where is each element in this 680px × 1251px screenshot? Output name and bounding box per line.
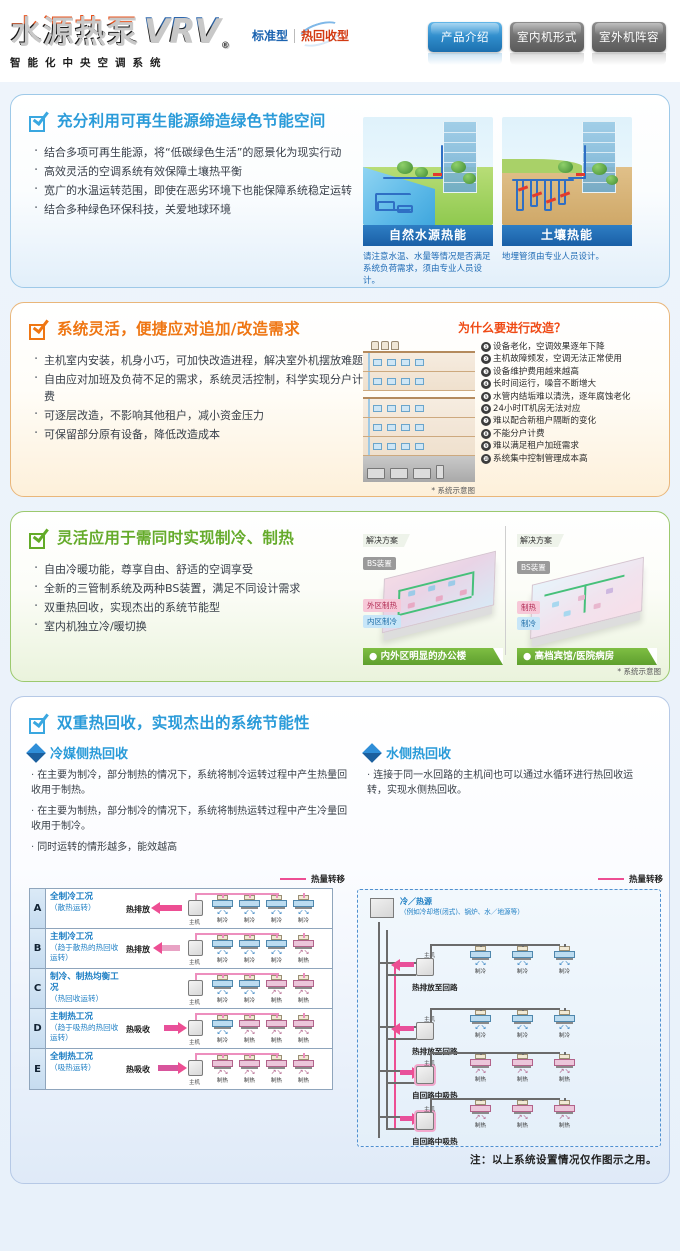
list-item: 结合多种绿色环保科技，关爱地球环境 — [33, 201, 363, 218]
list-item: 可逐层改造，不影响其他租户，减小资金压力 — [33, 407, 363, 424]
row-key: E — [30, 1049, 46, 1089]
paragraph: 连接于同一水回路的主机间也可以通过水循环进行热回收运转，实现水侧热回收。 — [365, 768, 651, 798]
list-item: ❾难以满足租户加班需求 — [481, 440, 661, 452]
roof-units-icon — [363, 341, 475, 350]
table-row: E 全制热工况 （吸热运转） 热吸收 主机 ↗↘制热 — [30, 1049, 332, 1089]
list-item: 高效灵活的空调系统有效保障土壤热平衡 — [33, 163, 363, 180]
diamond-icon — [362, 743, 382, 763]
badge-standard-type[interactable]: 标准型 — [252, 27, 288, 44]
list-item: ❷主机故障频发，空调无法正常使用 — [481, 353, 661, 365]
row-label: 全制冷工况 （散热运转） — [46, 889, 126, 928]
section2-bullet-list: 主机室内安装，机身小巧，可加快改造进程，解决室外机摆放难题 自由应对加班及负荷不… — [33, 352, 363, 443]
row-label: 全制热工况 （吸热运转） — [46, 1049, 126, 1089]
illustration-note: 地埋管须由专业人员设计。 — [502, 251, 632, 263]
badge-heat-recovery-type[interactable]: 热回收型 — [301, 27, 349, 44]
list-item: ❻24小时IT机房无法对应 — [481, 403, 661, 415]
host-unit-icon — [416, 958, 434, 976]
row-key: D — [30, 1009, 46, 1048]
section2-title: 系统灵活，便捷应对追加/改造需求 — [57, 319, 300, 339]
row-key: B — [30, 929, 46, 968]
retrofit-reasons-list: ❶设备老化，空调效果逐年下降 ❷主机故障频发，空调无法正常使用 ❸设备维护费用越… — [481, 341, 661, 496]
list-item: ❺水管内结垢难以清洗，逐年腐蚀老化 — [481, 391, 661, 403]
unit-bank: 主机 自回路中吸热 ↗↘制热 ↗↘制热 ↗↘制热 — [358, 1096, 660, 1148]
row-label: 制冷、制热均衡工况 （热回收运转） — [46, 969, 126, 1008]
row-diagram: 主机 ↙↘制冷 ↙↘制冷 ↗↘制热 ↗↘制热 — [126, 969, 332, 1008]
section4-title: 双重热回收，实现杰出的系统节能性 — [57, 713, 310, 733]
section1-bullet-list: 结合多项可再生能源，将“低碳绿色生活”的愿景化为现实行动 高效灵活的空调系统有效… — [33, 144, 363, 218]
table-row: A 全制冷工况 （散热运转） 热排放 主机 ↙↘制冷 — [30, 889, 332, 929]
section-simultaneous-cooling-heating: 灵活应用于需同时实现制冷、制热 自由冷暖功能，尊享自由、舒适的空调享受 全新的三… — [10, 511, 670, 682]
list-item: 结合多项可再生能源，将“低碳绿色生活”的愿景化为现实行动 — [33, 144, 363, 161]
water-loop-diagram: 冷／热源 （例如冷却塔(闭式)、锅炉、水／地源等） 主机 热排放至回路 — [357, 889, 661, 1147]
model-badges: 标准型 热回收型 — [252, 27, 349, 44]
list-item: 双重热回收，实现杰出的系统节能型 — [33, 599, 363, 616]
nav-button-outdoor-unit-lineup[interactable]: 室外机阵容 — [592, 22, 666, 52]
host-unit-icon — [188, 980, 203, 996]
list-item: ❼难以配合新租户隔断的变化 — [481, 415, 661, 427]
host-unit-icon — [188, 1020, 203, 1036]
paragraph: 同时运转的情形越多，能效越高 — [29, 840, 349, 855]
zone-label-heating: 制热 — [517, 601, 540, 614]
section-dual-heat-recovery: 双重热回收，实现杰出的系统节能性 冷媒侧热回收 在主要为制冷，部分制热的情况下，… — [10, 696, 670, 1184]
subsection-title-water: 水侧热回收 — [386, 743, 451, 762]
final-note: 注：以上系统设置情况仅作图示之用。 — [351, 1152, 657, 1167]
illustration-caption: 自然水源热能 — [363, 225, 493, 246]
solution-hotel-hospital: 解决方案 BS装置 制热 制冷 — [517, 528, 657, 681]
solution-tag: 解决方案 — [517, 534, 558, 547]
page-header: 水源热泵 VRV ® 智能化中央空调系统 标准型 热回收型 产品介绍 室内机形式… — [0, 0, 680, 82]
water-source-image — [363, 117, 493, 225]
refrigerant-side-column: 冷媒侧热回收 在主要为制冷，部分制热的情况下，系统将制冷运转过程中产生热量回收用… — [29, 743, 349, 861]
list-item: ❹长时间运行，噪音不断增大 — [481, 378, 661, 390]
big-diagram-legend: 热量转移 — [351, 873, 663, 885]
illustration-soil-source: 土壤热能 地埋管须由专业人员设计。 — [502, 117, 632, 287]
zone-label-cooling: 制冷 — [517, 617, 540, 630]
logo-vrv-text: VRV — [143, 11, 219, 51]
section-flexible-system: 系统灵活，便捷应对追加/改造需求 主机室内安装，机身小巧，可加快改造进程，解决室… — [10, 302, 670, 497]
diamond-icon — [26, 743, 46, 763]
row-key: A — [30, 889, 46, 928]
host-unit-icon — [416, 1022, 434, 1040]
bs-unit-label: BS装置 — [517, 561, 550, 574]
illustration-caption: 土壤热能 — [502, 225, 632, 246]
list-item: 主机室内安装，机身小巧，可加快改造进程，解决室外机摆放难题 — [33, 352, 363, 369]
row-diagram: 热吸收 主机 ↗↘制热 ↗↘制热 ↗↘制热 ↗↘制热 — [126, 1049, 332, 1089]
water-side-column: 水侧热回收 连接于同一水回路的主机间也可以通过水循环进行热回收运转，实现水侧热回… — [365, 743, 651, 861]
row-diagram: 热排放 主机 ↙↘制冷 ↙↘制冷 ↙↘制冷 ↙↘制冷 — [126, 889, 332, 928]
nav-buttons: 产品介绍 室内机形式 室外机阵容 — [428, 22, 666, 52]
checkmark-icon — [29, 322, 48, 341]
machine-room-icon — [363, 456, 475, 482]
heat-source-subtitle: （例如冷却塔(闭式)、锅炉、水／地源等） — [400, 906, 524, 916]
unit-bank: 主机 热排放至回路 ↙↘制冷 ↙↘制冷 ↙↘制冷 — [358, 942, 660, 1000]
list-item: 室内机独立冷/暖切换 — [33, 618, 363, 635]
heat-transfer-legend: 热量转移 — [11, 873, 345, 885]
illustration-water-source: 自然水源热能 请注意水温、水量等情况是否满足系统负荷需求，须由专业人员设计。 — [363, 117, 493, 287]
section2-question-title: 为什么要进行改造？ — [363, 319, 661, 336]
row-label: 主制热工况 （趋于吸热的热回收运转） — [46, 1009, 126, 1048]
list-item: ❸设备维护费用越来越高 — [481, 366, 661, 378]
page-root: 水源热泵 VRV ® 智能化中央空调系统 标准型 热回收型 产品介绍 室内机形式… — [0, 0, 680, 1251]
list-item: 宽广的水温运转范围，即使在恶劣环境下也能保障系统稳定运转 — [33, 182, 363, 199]
solution-caption: ● 内外区明显的办公楼 — [363, 648, 503, 665]
section3-bullet-list: 自由冷暖功能，尊享自由、舒适的空调享受 全新的三管制系统及两种BS装置，满足不同… — [33, 561, 363, 635]
bs-unit-label: BS装置 — [363, 557, 396, 570]
row-diagram: 热吸收 主机 ↙↘制冷 ↗↘制热 ↗↘制热 ↗↘制热 — [126, 1009, 332, 1048]
row-key: C — [30, 969, 46, 1008]
solution-3d-diagram: BS装置 制热 制冷 — [517, 551, 657, 643]
zone-label-heating: 外区制热 — [363, 599, 401, 612]
zone-label-cooling: 内区制冷 — [363, 615, 401, 628]
host-unit-icon — [188, 900, 203, 916]
list-item: 自由冷暖功能，尊享自由、舒适的空调享受 — [33, 561, 363, 578]
building-retrofit-diagram: * 系统示意图 — [363, 341, 475, 496]
nav-button-indoor-unit-types[interactable]: 室内机形式 — [510, 22, 584, 52]
checkmark-icon — [29, 114, 48, 133]
table-row: D 主制热工况 （趋于吸热的热回收运转） 热吸收 主机 ↙↘制 — [30, 1009, 332, 1049]
nav-button-product-intro[interactable]: 产品介绍 — [428, 22, 502, 52]
badge-divider — [294, 29, 295, 43]
registered-trademark-icon: ® — [221, 41, 232, 51]
illustration-note: 请注意水温、水量等情况是否满足系统负荷需求，须由专业人员设计。 — [363, 251, 493, 287]
list-item: ❽不能分户计费 — [481, 428, 661, 440]
row-label: 主制冷工况 （趋于散热的热回收运转） — [46, 929, 126, 968]
section1-title: 充分利用可再生能源缔造绿色节能空间 — [57, 111, 326, 131]
section2-diagram-note: * 系统示意图 — [363, 485, 475, 496]
section3-diagram-note: * 系统示意图 — [617, 666, 661, 677]
solution-office-building: 解决方案 — [363, 528, 503, 681]
logo-chinese-text: 水源热泵 — [10, 6, 138, 51]
list-item: 可保留部分原有设备，降低改造成本 — [33, 426, 363, 443]
list-item: ❿系统集中控制管理成本高 — [481, 453, 661, 465]
paragraph: 在主要为制冷，部分制热的情况下，系统将制冷运转过程中产生热量回收用于制热。 — [29, 768, 349, 798]
solution-caption: ● 高档宾馆/医院病房 — [517, 648, 657, 665]
operating-modes-table: A 全制冷工况 （散热运转） 热排放 主机 ↙↘制冷 — [29, 888, 333, 1090]
section3-title: 灵活应用于需同时实现制冷、制热 — [57, 528, 294, 548]
list-item: 全新的三管制系统及两种BS装置，满足不同设计需求 — [33, 580, 363, 597]
solution-3d-diagram: BS装置 外区制热 内区制冷 — [363, 551, 503, 643]
heat-source-icon — [370, 898, 394, 918]
soil-source-image — [502, 117, 632, 225]
list-item: 自由应对加班及负荷不足的需求，系统灵活控制，科学实现分户计费 — [33, 371, 363, 405]
host-unit-icon — [416, 1112, 434, 1130]
host-unit-icon — [188, 940, 203, 956]
legend-line-icon — [598, 878, 624, 881]
brand-logo: 水源热泵 VRV ® 智能化中央空调系统 — [10, 6, 280, 70]
subsection-title-refrigerant: 冷媒侧热回收 — [50, 743, 128, 762]
host-unit-icon — [416, 1066, 434, 1084]
solution-tag: 解决方案 — [363, 534, 404, 547]
legend-line-icon — [280, 878, 306, 881]
host-unit-icon — [188, 1060, 203, 1076]
checkmark-icon — [29, 716, 48, 735]
solution-divider — [505, 526, 506, 655]
section-renewable-energy: 充分利用可再生能源缔造绿色节能空间 结合多项可再生能源，将“低碳绿色生活”的愿景… — [10, 94, 670, 288]
table-row: B 主制冷工况 （趋于散热的热回收运转） 热排放 主机 ↙↘制 — [30, 929, 332, 969]
list-item: ❶设备老化，空调效果逐年下降 — [481, 341, 661, 353]
logo-subtitle: 智能化中央空调系统 — [10, 55, 280, 70]
row-diagram: 热排放 主机 ↙↘制冷 ↙↘制冷 ↙↘制冷 ↗↘制热 — [126, 929, 332, 968]
checkmark-icon — [29, 531, 48, 550]
table-row: C 制冷、制热均衡工况 （热回收运转） 主机 ↙↘制冷 ↙↘制冷 — [30, 969, 332, 1009]
paragraph: 在主要为制热，部分制冷的情况下，系统将制热运转过程中产生冷量回收用于制冷。 — [29, 804, 349, 834]
nav-button-reflections — [428, 53, 666, 65]
